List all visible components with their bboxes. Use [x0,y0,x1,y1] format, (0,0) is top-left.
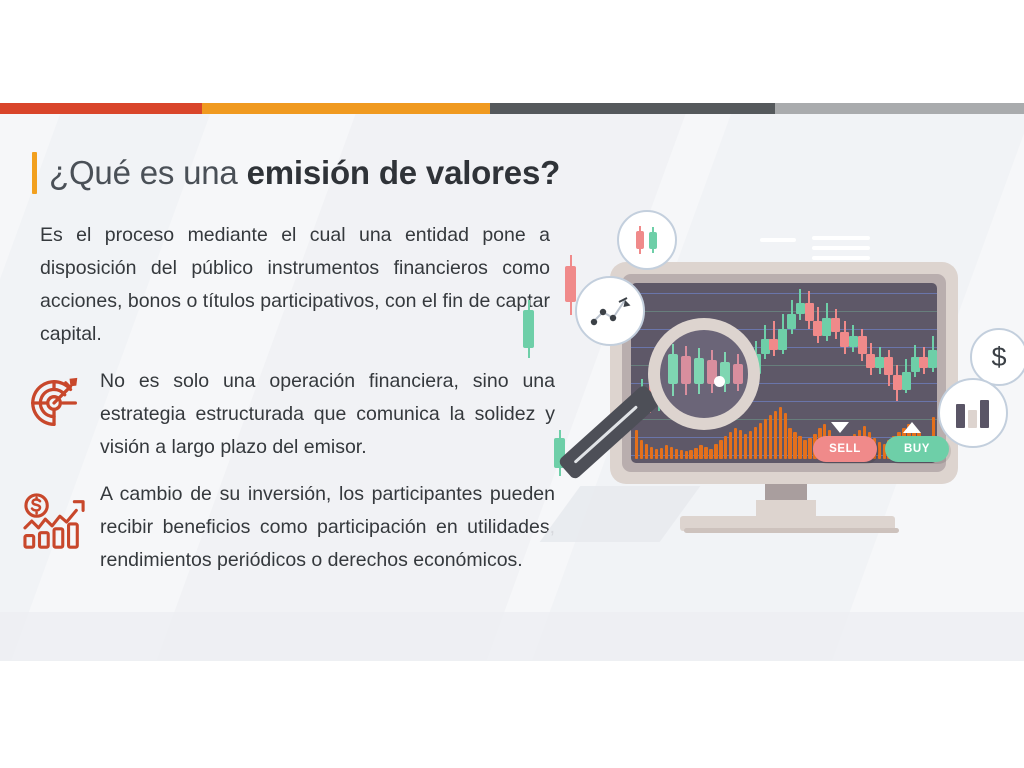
volume-bar [719,440,722,459]
volume-bar [798,436,801,459]
volume-bar [774,411,777,459]
candle-body [902,372,911,390]
magnifier-ring [648,318,760,430]
candle-body [761,339,770,353]
candle-body [831,318,840,332]
chart-gridline [631,311,937,312]
volume-bar [744,434,747,459]
decor-line-1 [760,238,796,242]
volume-bar [665,445,668,459]
candle-body [849,336,858,347]
title-light-text: ¿Qué es una [49,154,247,191]
bar-chart-badge [938,378,1008,448]
paragraph-benefits: A cambio de su inversión, los participan… [100,478,555,577]
volume-bar [729,432,732,459]
title-accent-bar [32,152,37,194]
topbar-segment-orange [202,103,490,114]
candle-body [928,350,937,368]
candle-body [805,303,814,321]
trading-monitor-illustration: SELL BUY $ [560,200,1024,540]
volume-bar [788,428,791,459]
volume-bar [709,449,712,459]
sell-marker-icon [831,422,849,433]
volume-bar [784,413,787,459]
magnifier-highlight-dot [714,376,725,387]
buy-button[interactable]: BUY [885,436,949,462]
candlestick-badge-icon [632,224,662,256]
volume-bar [650,447,653,459]
magnified-candle-body [694,358,704,384]
volume-bar [808,438,811,459]
volume-bar [660,448,663,459]
topbar-segment-red [0,103,202,114]
volume-bar [764,419,767,459]
slide-canvas: ¿Qué es una emisión de valores? Es el pr… [0,0,1024,768]
candle-body [884,357,893,375]
magnified-candle-body [668,354,678,384]
candlestick-badge [617,210,677,270]
volume-bar [779,407,782,459]
buy-marker-icon [903,422,921,433]
floating-candle-red [565,266,576,302]
volume-bar [793,432,796,459]
volume-bar [670,447,673,459]
volume-bar [689,450,692,459]
candle-body [893,375,902,389]
candle-body [787,314,796,328]
dollar-growth-chart-icon [20,492,82,554]
candle-body [778,329,787,351]
candle-body [822,318,831,336]
volume-bar [749,431,752,459]
volume-bar [734,428,737,459]
volume-bar [694,448,697,459]
volume-bar [754,427,757,459]
candle-body [866,354,875,368]
page-title: ¿Qué es una emisión de valores? [32,152,560,194]
volume-bar [803,440,806,459]
paragraph-intro: Es el proceso mediante el cual una entid… [40,219,550,351]
volume-bar [769,415,772,459]
volume-bar [759,423,762,459]
background-diagonal-4 [0,612,1024,661]
scatter-trend-badge [575,276,645,346]
magnified-candle-body [681,356,691,384]
volume-bar [645,444,648,459]
volume-bar [685,451,688,459]
paragraph-strategy: No es solo una operación financiera, sin… [100,365,555,464]
candle-body [858,336,867,354]
volume-bar [675,449,678,459]
candle-body [840,332,849,346]
title-bold-text: emisión de valores? [247,154,561,191]
decor-line-3 [812,246,870,250]
bar-chart-icon [953,396,993,430]
candle-body [769,339,778,350]
sell-button[interactable]: SELL [813,436,877,462]
chart-gridline [631,293,937,294]
magnified-candle-body [733,364,743,384]
monitor-base-shadow [684,528,899,533]
volume-bar [704,447,707,459]
target-arrow-icon [24,372,86,434]
scatter-trend-icon [589,292,631,330]
candle-body [813,321,822,335]
candle-body [919,357,928,368]
volume-bar [714,444,717,459]
top-color-bar [0,103,1024,114]
magnifier-lens [660,330,748,418]
volume-bar [655,449,658,459]
dollar-badge: $ [970,328,1024,386]
volume-bar [635,430,638,459]
decor-line-2 [812,236,870,240]
illustration-shadow-wedge [540,486,701,542]
topbar-segment-gray [775,103,1024,114]
volume-bar [739,430,742,459]
floating-candle-green [523,310,534,348]
volume-bar [724,436,727,459]
volume-bar [640,440,643,459]
candle-body [796,303,805,314]
volume-bar [699,445,702,459]
volume-bar [680,450,683,459]
candle-body [911,357,920,371]
candle-body [875,357,884,368]
volume-bar [878,442,881,459]
decor-line-4 [812,256,870,260]
topbar-segment-dark [490,103,775,114]
